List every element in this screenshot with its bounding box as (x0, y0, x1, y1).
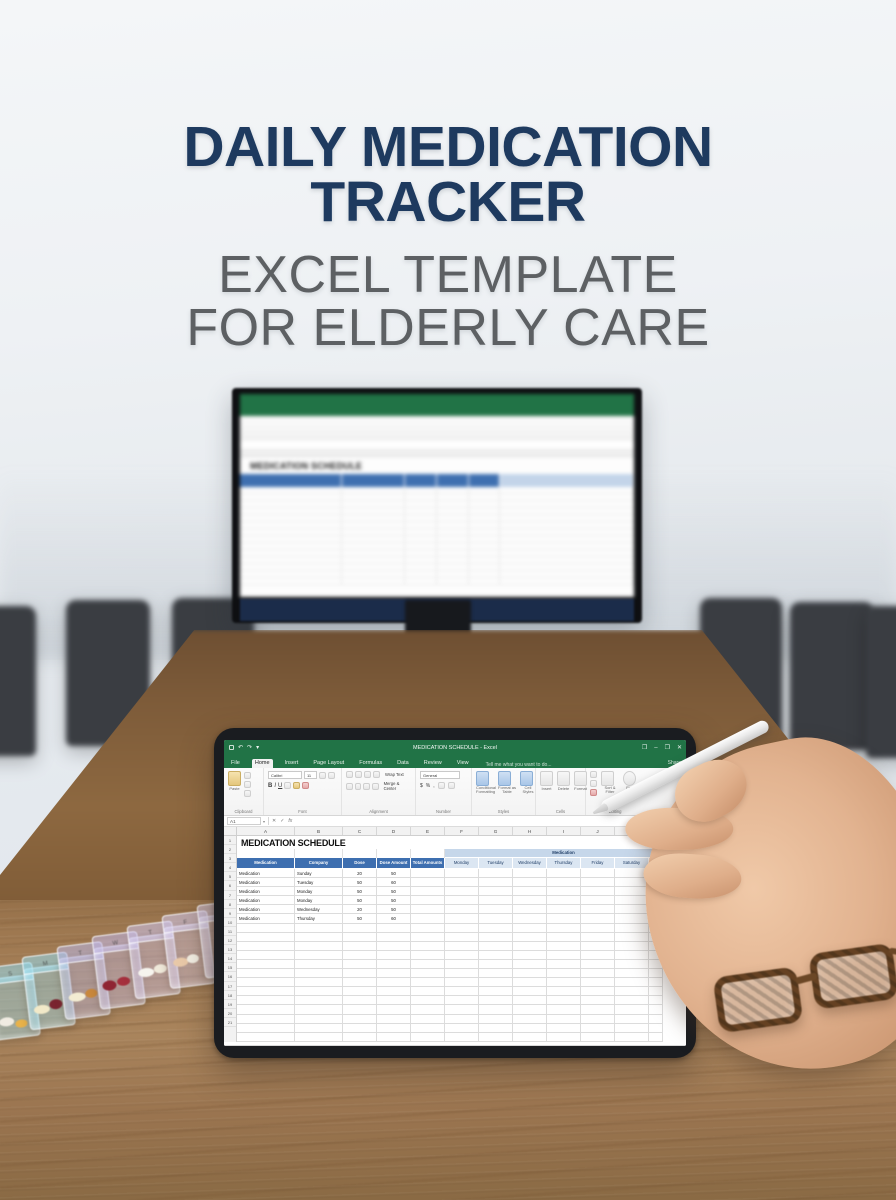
cell-dose-amount[interactable]: 50 (377, 869, 411, 878)
empty-cell[interactable] (411, 987, 445, 996)
empty-cell[interactable] (581, 924, 615, 933)
cell-friday[interactable] (581, 887, 615, 896)
cell-wednesday[interactable] (513, 905, 547, 914)
cell-medication[interactable]: Medication (237, 869, 295, 878)
cell-company[interactable]: Sunday (295, 869, 343, 878)
column-header-h[interactable]: H (513, 827, 547, 835)
cell-company[interactable]: Monday (295, 887, 343, 896)
cell-dose[interactable]: 20 (343, 905, 377, 914)
empty-cell[interactable] (547, 987, 581, 996)
empty-cell[interactable] (377, 978, 411, 987)
empty-cell[interactable] (479, 960, 513, 969)
empty-cell[interactable] (237, 1033, 295, 1042)
row-header[interactable]: 14 (224, 954, 236, 963)
empty-cell[interactable] (547, 1024, 581, 1033)
empty-cell[interactable] (411, 996, 445, 1005)
cell-monday[interactable] (445, 878, 479, 887)
empty-cell[interactable] (547, 996, 581, 1005)
empty-cell[interactable] (295, 978, 343, 987)
empty-cell[interactable] (513, 942, 547, 951)
cell-dose[interactable]: 50 (343, 878, 377, 887)
empty-cell[interactable] (479, 942, 513, 951)
empty-cell[interactable] (513, 969, 547, 978)
row-header[interactable]: 20 (224, 1009, 236, 1018)
empty-cell[interactable] (513, 924, 547, 933)
align-right-icon[interactable] (363, 783, 370, 790)
cell-total[interactable] (411, 869, 445, 878)
conditional-formatting-icon[interactable] (476, 771, 489, 786)
tab-insert[interactable]: Insert (282, 759, 302, 768)
empty-cell[interactable] (295, 996, 343, 1005)
empty-cell[interactable] (581, 951, 615, 960)
column-header-f[interactable]: F (445, 827, 479, 835)
cell-thursday[interactable] (547, 914, 581, 923)
cell-medication[interactable]: Medication (237, 905, 295, 914)
empty-cell[interactable] (411, 942, 445, 951)
empty-cell[interactable] (377, 996, 411, 1005)
empty-cell[interactable] (411, 1033, 445, 1042)
cell-thursday[interactable] (547, 869, 581, 878)
empty-cell[interactable] (649, 1024, 663, 1033)
orientation-icon[interactable] (373, 771, 380, 778)
empty-cell[interactable] (479, 1033, 513, 1042)
row-header[interactable]: 10 (224, 918, 236, 927)
empty-cell[interactable] (411, 1024, 445, 1033)
empty-cell[interactable] (411, 969, 445, 978)
cell-friday[interactable] (581, 914, 615, 923)
ribbon-display-options-icon[interactable]: ❐ (642, 744, 647, 751)
cell-friday[interactable] (581, 878, 615, 887)
empty-cell[interactable] (615, 951, 649, 960)
empty-cell[interactable] (237, 951, 295, 960)
cancel-icon[interactable]: ✕ (272, 818, 276, 824)
empty-cell[interactable] (649, 1005, 663, 1014)
column-header-b[interactable]: B (295, 827, 343, 835)
cell-saturday[interactable] (615, 896, 649, 905)
underline-button[interactable]: U (278, 783, 282, 789)
column-header-g[interactable]: G (479, 827, 513, 835)
percent-format-icon[interactable]: % (426, 783, 430, 789)
row-header[interactable]: 7 (224, 891, 236, 900)
formula-bar-icons[interactable]: ✕ ✓ fx (272, 818, 292, 824)
cell-medication[interactable]: Medication (237, 896, 295, 905)
cell-medication[interactable]: Medication (237, 887, 295, 896)
row-header[interactable]: 15 (224, 963, 236, 972)
empty-cell[interactable] (411, 1015, 445, 1024)
enter-icon[interactable]: ✓ (280, 818, 284, 824)
increase-decimal-icon[interactable] (438, 782, 445, 789)
table-row[interactable]: Medication Tuesday 50 60 (237, 878, 686, 887)
cell-monday[interactable] (445, 869, 479, 878)
comma-format-icon[interactable]: , (433, 783, 434, 789)
empty-table-row[interactable] (237, 942, 686, 951)
cell-tuesday[interactable] (479, 896, 513, 905)
empty-cell[interactable] (343, 987, 377, 996)
italic-button[interactable]: I (274, 783, 276, 789)
empty-cell[interactable] (513, 978, 547, 987)
empty-cell[interactable] (295, 969, 343, 978)
empty-cell[interactable] (581, 978, 615, 987)
wrap-text-button[interactable]: Wrap Text (385, 772, 404, 777)
empty-cell[interactable] (547, 978, 581, 987)
row-header[interactable]: 13 (224, 945, 236, 954)
empty-cell[interactable] (479, 951, 513, 960)
empty-cell[interactable] (411, 1005, 445, 1014)
empty-cell[interactable] (237, 924, 295, 933)
cell-dose[interactable]: 50 (343, 896, 377, 905)
row-header[interactable]: 16 (224, 972, 236, 981)
bold-button[interactable]: B (268, 783, 272, 789)
empty-cell[interactable] (513, 1005, 547, 1014)
empty-cell[interactable] (547, 924, 581, 933)
tab-page-layout[interactable]: Page Layout (310, 759, 347, 768)
empty-cell[interactable] (479, 1024, 513, 1033)
empty-cell[interactable] (581, 1005, 615, 1014)
table-row[interactable]: Medication Monday 50 50 (237, 896, 686, 905)
empty-cell[interactable] (411, 978, 445, 987)
tab-view[interactable]: View (454, 759, 472, 768)
empty-cell[interactable] (343, 960, 377, 969)
row-header[interactable]: 6 (224, 881, 236, 890)
empty-cell[interactable] (237, 933, 295, 942)
empty-cell[interactable] (615, 1024, 649, 1033)
empty-cell[interactable] (513, 960, 547, 969)
empty-cell[interactable] (479, 996, 513, 1005)
cell-wednesday[interactable] (513, 914, 547, 923)
empty-cell[interactable] (445, 1005, 479, 1014)
empty-cell[interactable] (237, 1005, 295, 1014)
empty-table-row[interactable] (237, 987, 686, 996)
ribbon[interactable]: Paste Clipboard Calibri 11 (224, 768, 686, 816)
column-header-j[interactable]: J (581, 827, 615, 835)
empty-cell[interactable] (581, 969, 615, 978)
empty-cell[interactable] (377, 1024, 411, 1033)
empty-table-row[interactable] (237, 1005, 686, 1014)
cell-friday[interactable] (581, 905, 615, 914)
row-header[interactable]: 9 (224, 909, 236, 918)
empty-cell[interactable] (581, 960, 615, 969)
empty-table-row[interactable] (237, 933, 686, 942)
empty-cell[interactable] (615, 978, 649, 987)
empty-cell[interactable] (581, 1015, 615, 1024)
empty-cell[interactable] (295, 1033, 343, 1042)
row-header[interactable]: 11 (224, 927, 236, 936)
empty-cell[interactable] (479, 969, 513, 978)
row-header[interactable]: 2 (224, 845, 236, 854)
cell-saturday[interactable] (615, 914, 649, 923)
tablet-screen[interactable]: ↶ ↷ ▾ MEDICATION SCHEDULE - Excel ❐ – ❐ … (224, 740, 686, 1046)
empty-cell[interactable] (581, 996, 615, 1005)
empty-cell[interactable] (513, 1024, 547, 1033)
row-header[interactable]: 19 (224, 1000, 236, 1009)
merge-center-button[interactable]: Merge & Center (384, 781, 411, 791)
empty-cell[interactable] (295, 987, 343, 996)
cell-saturday[interactable] (615, 887, 649, 896)
cell-thursday[interactable] (547, 905, 581, 914)
empty-cell[interactable] (343, 924, 377, 933)
empty-cell[interactable] (615, 996, 649, 1005)
name-box-dropdown-icon[interactable]: ▾ (263, 819, 265, 824)
column-header-e[interactable]: E (411, 827, 445, 835)
cell-dose[interactable]: 50 (343, 914, 377, 923)
grid-body[interactable]: 1 2 3 4 5 6 7 8 9 10 11 12 13 14 (224, 836, 686, 1042)
empty-cell[interactable] (445, 960, 479, 969)
select-all-corner[interactable] (224, 827, 237, 835)
empty-table-row[interactable] (237, 960, 686, 969)
empty-cell[interactable] (295, 1015, 343, 1024)
table-row[interactable]: Medication Wednesday 20 50 (237, 905, 686, 914)
empty-cell[interactable] (445, 978, 479, 987)
cell-dose-amount[interactable]: 50 (377, 887, 411, 896)
empty-cell[interactable] (581, 1024, 615, 1033)
empty-cell[interactable] (377, 987, 411, 996)
column-header-d[interactable]: D (377, 827, 411, 835)
empty-cell[interactable] (615, 942, 649, 951)
cell-tuesday[interactable] (479, 878, 513, 887)
empty-cell[interactable] (649, 978, 663, 987)
empty-cell[interactable] (547, 1015, 581, 1024)
empty-cell[interactable] (547, 1033, 581, 1042)
cell-thursday[interactable] (547, 887, 581, 896)
row-header[interactable]: 3 (224, 854, 236, 863)
empty-cell[interactable] (445, 933, 479, 942)
empty-cell[interactable] (649, 1033, 663, 1042)
currency-format-icon[interactable]: $ (420, 783, 423, 789)
empty-cell[interactable] (547, 942, 581, 951)
empty-cell[interactable] (547, 951, 581, 960)
cell-dose-amount[interactable]: 60 (377, 914, 411, 923)
empty-cell[interactable] (343, 1033, 377, 1042)
empty-cell[interactable] (445, 987, 479, 996)
row-header[interactable]: 8 (224, 900, 236, 909)
table-row[interactable]: Medication Thursday 50 60 (237, 914, 686, 923)
empty-table-row[interactable] (237, 978, 686, 987)
empty-cell[interactable] (581, 933, 615, 942)
empty-table-row[interactable] (237, 996, 686, 1005)
empty-table-row[interactable] (237, 1024, 686, 1033)
empty-cell[interactable] (445, 1033, 479, 1042)
empty-cell[interactable] (377, 933, 411, 942)
close-button[interactable]: ✕ (677, 744, 682, 751)
sheet-tab-bar[interactable]: ◀ ◀ Sheet1 ⊕ (224, 1045, 686, 1046)
empty-cell[interactable] (411, 933, 445, 942)
cell-wednesday[interactable] (513, 869, 547, 878)
align-left-icon[interactable] (346, 783, 353, 790)
cell-monday[interactable] (445, 905, 479, 914)
empty-cell[interactable] (479, 1005, 513, 1014)
row-header[interactable]: 18 (224, 991, 236, 1000)
empty-cell[interactable] (377, 969, 411, 978)
empty-cell[interactable] (615, 1033, 649, 1042)
clear-icon[interactable] (590, 789, 597, 796)
cell-saturday[interactable] (615, 905, 649, 914)
tab-home[interactable]: Home (252, 759, 273, 768)
empty-cell[interactable] (547, 969, 581, 978)
cell-dose-amount[interactable]: 50 (377, 905, 411, 914)
insert-function-icon[interactable]: fx (288, 818, 292, 824)
paste-icon[interactable] (228, 771, 241, 786)
format-painter-icon[interactable] (244, 790, 251, 797)
tab-data[interactable]: Data (394, 759, 412, 768)
row-header[interactable]: 17 (224, 982, 236, 991)
cell-dose-amount[interactable]: 60 (377, 878, 411, 887)
row-header[interactable]: 4 (224, 863, 236, 872)
empty-cell[interactable] (343, 951, 377, 960)
empty-cell[interactable] (547, 933, 581, 942)
empty-table-row[interactable] (237, 969, 686, 978)
empty-cell[interactable] (237, 987, 295, 996)
empty-cell[interactable] (377, 1005, 411, 1014)
empty-cell[interactable] (411, 924, 445, 933)
column-header-c[interactable]: C (343, 827, 377, 835)
empty-cell[interactable] (377, 951, 411, 960)
empty-table-row[interactable] (237, 951, 686, 960)
cell-company[interactable]: Tuesday (295, 878, 343, 887)
empty-cell[interactable] (479, 1015, 513, 1024)
cell-total[interactable] (411, 887, 445, 896)
empty-cell[interactable] (615, 1015, 649, 1024)
cell-wednesday[interactable] (513, 878, 547, 887)
empty-cell[interactable] (295, 960, 343, 969)
empty-cell[interactable] (615, 924, 649, 933)
empty-cell[interactable] (343, 1005, 377, 1014)
formula-input[interactable] (295, 817, 683, 825)
empty-cell[interactable] (377, 1015, 411, 1024)
copy-icon[interactable] (244, 781, 251, 788)
cell-dose-amount[interactable]: 50 (377, 896, 411, 905)
empty-cell[interactable] (479, 978, 513, 987)
empty-cell[interactable] (377, 1033, 411, 1042)
font-name-box[interactable]: Calibri (268, 771, 302, 779)
cell-medication[interactable]: Medication (237, 914, 295, 923)
row-header[interactable]: 5 (224, 872, 236, 881)
empty-cell[interactable] (237, 978, 295, 987)
formula-bar[interactable]: A1 ▾ ✕ ✓ fx (224, 816, 686, 827)
empty-cell[interactable] (513, 951, 547, 960)
empty-cell[interactable] (479, 933, 513, 942)
name-box[interactable]: A1 (227, 817, 261, 825)
empty-cell[interactable] (479, 987, 513, 996)
align-bottom-icon[interactable] (364, 771, 371, 778)
cell-total[interactable] (411, 905, 445, 914)
row-header[interactable]: 12 (224, 936, 236, 945)
align-top-icon[interactable] (346, 771, 353, 778)
empty-cell[interactable] (377, 924, 411, 933)
empty-cell[interactable] (343, 933, 377, 942)
tab-formulas[interactable]: Formulas (356, 759, 385, 768)
delete-cells-icon[interactable] (557, 771, 570, 786)
align-middle-icon[interactable] (355, 771, 362, 778)
empty-cell[interactable] (411, 951, 445, 960)
cell-monday[interactable] (445, 896, 479, 905)
sort-filter-icon[interactable] (601, 771, 614, 786)
empty-cell[interactable] (445, 969, 479, 978)
tab-review[interactable]: Review (421, 759, 445, 768)
ribbon-tab-bar[interactable]: File Home Insert Page Layout Formulas Da… (224, 755, 686, 768)
empty-rows-container[interactable] (237, 924, 686, 1042)
empty-cell[interactable] (649, 987, 663, 996)
column-header-a[interactable]: A (237, 827, 295, 835)
empty-cell[interactable] (615, 987, 649, 996)
empty-cell[interactable] (377, 960, 411, 969)
empty-cell[interactable] (479, 924, 513, 933)
empty-cell[interactable] (513, 933, 547, 942)
empty-cell[interactable] (237, 942, 295, 951)
cell-thursday[interactable] (547, 896, 581, 905)
fill-icon[interactable] (590, 780, 597, 787)
cell-company[interactable]: Monday (295, 896, 343, 905)
empty-cell[interactable] (445, 1015, 479, 1024)
column-header-row[interactable]: A B C D E F G H I J K L (224, 827, 686, 836)
cell-thursday[interactable] (547, 878, 581, 887)
cut-icon[interactable] (244, 772, 251, 779)
empty-cell[interactable] (581, 942, 615, 951)
minimize-button[interactable]: – (654, 745, 657, 751)
empty-cell[interactable] (237, 960, 295, 969)
sheet-cells[interactable]: MEDICATION SCHEDULE Medication (237, 836, 686, 1042)
decrease-decimal-icon[interactable] (448, 782, 455, 789)
cell-dose[interactable]: 50 (343, 887, 377, 896)
cell-tuesday[interactable] (479, 914, 513, 923)
empty-cell[interactable] (295, 951, 343, 960)
empty-cell[interactable] (295, 933, 343, 942)
empty-cell[interactable] (295, 1005, 343, 1014)
empty-cell[interactable] (581, 1033, 615, 1042)
empty-table-row[interactable] (237, 1015, 686, 1024)
empty-cell[interactable] (649, 1015, 663, 1024)
empty-cell[interactable] (513, 996, 547, 1005)
font-size-box[interactable]: 11 (304, 771, 317, 779)
empty-cell[interactable] (615, 1005, 649, 1014)
empty-cell[interactable] (343, 996, 377, 1005)
cell-tuesday[interactable] (479, 869, 513, 878)
empty-cell[interactable] (343, 969, 377, 978)
row-header-column[interactable]: 1 2 3 4 5 6 7 8 9 10 11 12 13 14 (224, 836, 237, 1042)
tab-file[interactable]: File (228, 759, 243, 768)
empty-cell[interactable] (295, 942, 343, 951)
empty-cell[interactable] (547, 960, 581, 969)
empty-cell[interactable] (513, 1015, 547, 1024)
cell-monday[interactable] (445, 887, 479, 896)
cell-wednesday[interactable] (513, 896, 547, 905)
spreadsheet-grid[interactable]: A B C D E F G H I J K L 1 2 (224, 827, 686, 1045)
empty-cell[interactable] (513, 1033, 547, 1042)
row-header[interactable]: 21 (224, 1018, 236, 1027)
number-format-box[interactable]: General (420, 771, 460, 779)
empty-cell[interactable] (237, 969, 295, 978)
table-row[interactable]: Medication Sunday 20 50 (237, 869, 686, 878)
font-color-icon[interactable] (302, 782, 309, 789)
borders-icon[interactable] (284, 782, 291, 789)
cell-wednesday[interactable] (513, 887, 547, 896)
cell-dose[interactable]: 20 (343, 869, 377, 878)
empty-cell[interactable] (343, 1015, 377, 1024)
cell-tuesday[interactable] (479, 905, 513, 914)
cell-total[interactable] (411, 878, 445, 887)
cell-friday[interactable] (581, 869, 615, 878)
align-center-icon[interactable] (355, 783, 362, 790)
empty-cell[interactable] (445, 951, 479, 960)
empty-cell[interactable] (237, 1015, 295, 1024)
decrease-indent-icon[interactable] (372, 783, 379, 790)
empty-cell[interactable] (295, 1024, 343, 1033)
cell-company[interactable]: Wednesday (295, 905, 343, 914)
table-row[interactable]: Medication Monday 50 50 (237, 887, 686, 896)
window-controls[interactable]: ❐ – ❐ ✕ (642, 744, 682, 751)
format-as-table-icon[interactable] (498, 771, 511, 786)
empty-cell[interactable] (445, 1024, 479, 1033)
empty-cell[interactable] (445, 942, 479, 951)
